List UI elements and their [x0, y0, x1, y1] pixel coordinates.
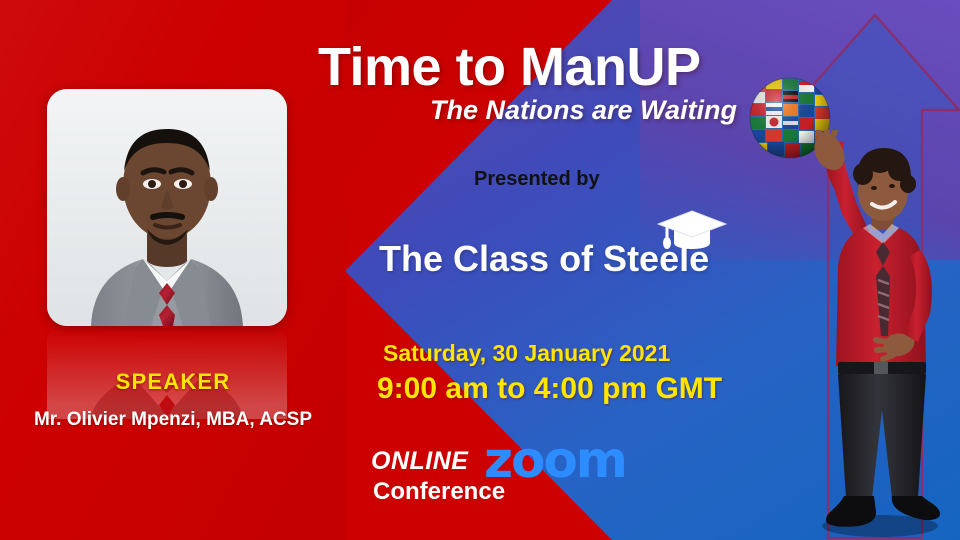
event-date: Saturday, 30 January 2021 [383, 340, 670, 367]
event-time: 9:00 am to 4:00 pm GMT [377, 372, 722, 406]
model-with-globe [800, 130, 960, 540]
conference-flyer: SPEAKER Mr. Olivier Mpenzi, MBA, ACSP Ti… [0, 0, 960, 540]
online-conference-lockup: ONLINE zoom Conference [371, 437, 611, 507]
speaker-photo [47, 89, 287, 326]
conference-label: Conference [373, 478, 505, 506]
speaker-role-label: SPEAKER [0, 369, 346, 395]
speaker-name: Mr. Olivier Mpenzi, MBA, ACSP [0, 409, 346, 431]
presented-by-label: Presented by [474, 168, 600, 191]
zoom-brand-logo: zoom [484, 431, 626, 489]
page-subtitle: The Nations are Waiting [430, 95, 737, 126]
online-label: ONLINE [371, 447, 468, 476]
graduation-cap-icon [657, 207, 727, 263]
page-title: Time to ManUP [318, 36, 701, 98]
speaker-panel: SPEAKER Mr. Olivier Mpenzi, MBA, ACSP [0, 0, 346, 540]
